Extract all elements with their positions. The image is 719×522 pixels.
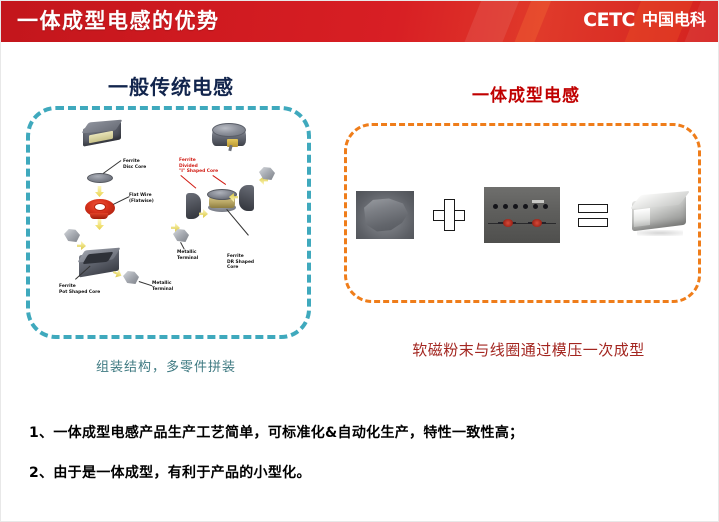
- plus-operator-icon: [433, 199, 465, 231]
- equals-operator-icon: [578, 199, 610, 231]
- molded-inductor-photo: [629, 190, 691, 240]
- drum-inductor-lid: [212, 123, 246, 137]
- assembly-arrow-down-icon: [95, 186, 104, 197]
- label-metallic-terminal-left: Metallic Terminal: [152, 281, 173, 292]
- molded-inductor-terminal-band: [634, 208, 650, 227]
- coil-dot: [493, 204, 498, 209]
- label-metallic-terminal-right: Metallic Terminal: [177, 250, 198, 261]
- flat-wire-tail: [90, 213, 108, 219]
- traditional-inductor-exploded-diagram: Ferrite Disc Core Flat Wire (Flatwise) F…: [31, 111, 306, 333]
- metallic-terminal-part: [64, 229, 80, 242]
- coil-photo: [484, 187, 560, 243]
- bullet-point-2: 2、由于是一体成型，有利于产品的小型化。: [29, 462, 311, 482]
- divided-i-shaped-core-part: [186, 193, 201, 219]
- drum-inductor-photo: [209, 119, 251, 151]
- flat-wire-part: [85, 197, 115, 219]
- smd-inductor-photo: [81, 119, 125, 149]
- plus-vertical-bar: [444, 199, 455, 231]
- coil-dot: [513, 204, 518, 209]
- brand-logo-mark: CETC: [583, 9, 635, 31]
- coil-dot: [523, 204, 528, 209]
- flat-wire-hole: [95, 204, 105, 210]
- page-title: 一体成型电感的优势: [17, 7, 220, 35]
- ferrite-dr-shaped-core-part: [207, 189, 237, 213]
- brand-logo: CETC 中国电科: [583, 9, 706, 31]
- molded-inductor-shadow: [637, 230, 683, 236]
- label-ferrite-pot-shaped-core: Ferrite Pot Shaped Core: [59, 284, 100, 295]
- coil-dot: [503, 204, 508, 209]
- left-panel-title: 一般传统电感: [61, 71, 281, 100]
- left-panel-caption: 组装结构，多零件拼装: [31, 356, 301, 375]
- soft-magnetic-powder-photo: [356, 191, 414, 239]
- label-leader-line: [113, 196, 130, 205]
- assembly-arrow-down-icon: [95, 219, 104, 230]
- bullet-point-1: 1、一体成型电感产品生产工艺简单，可标准化&自动化生产，特性一致性高；: [29, 422, 523, 442]
- equals-top-bar: [578, 204, 608, 213]
- coil-dot: [533, 204, 538, 209]
- label-ferrite-divided-i-shaped-core: Ferrite Divided "I" Shaped Core: [179, 158, 218, 175]
- equals-bottom-bar: [578, 218, 608, 227]
- slide-header-band: 一体成型电感的优势 CETC 中国电科: [1, 1, 719, 42]
- brand-logo-chinese: 中国电科: [642, 9, 706, 31]
- metallic-terminal-part: [259, 167, 275, 180]
- divided-i-shaped-core-part: [239, 185, 254, 211]
- label-leader-line: [180, 175, 196, 189]
- right-panel-caption: 软磁粉末与线圈通过模压一次成型: [361, 339, 696, 360]
- right-panel-title: 一体成型电感: [401, 81, 651, 106]
- ferrite-disc-core-part: [87, 173, 113, 183]
- label-leader-line: [139, 281, 153, 286]
- drum-inductor-pin: [228, 145, 232, 152]
- coil-dot: [543, 204, 548, 209]
- powder-heap: [360, 197, 410, 233]
- coil-winding-body: [503, 219, 513, 227]
- label-leader-line: [180, 242, 185, 250]
- coil-winding-body: [532, 219, 542, 227]
- label-ferrite-disc-core: Ferrite Disc Core: [123, 159, 146, 170]
- coil-reference-strip: [532, 200, 544, 203]
- label-leader-line: [212, 175, 226, 185]
- metallic-terminal-part: [123, 271, 139, 284]
- label-leader-line: [103, 160, 121, 174]
- label-ferrite-dr-shaped-core: Ferrite DR Shaped Core: [227, 254, 254, 271]
- label-flat-wire: Flat Wire (Flatwise): [129, 193, 154, 204]
- label-leader-line: [226, 209, 249, 236]
- molding-formula-row: [356, 184, 691, 246]
- slide-canvas: 一体成型电感的优势 CETC 中国电科 一般传统电感 Ferrite Disc …: [0, 0, 719, 522]
